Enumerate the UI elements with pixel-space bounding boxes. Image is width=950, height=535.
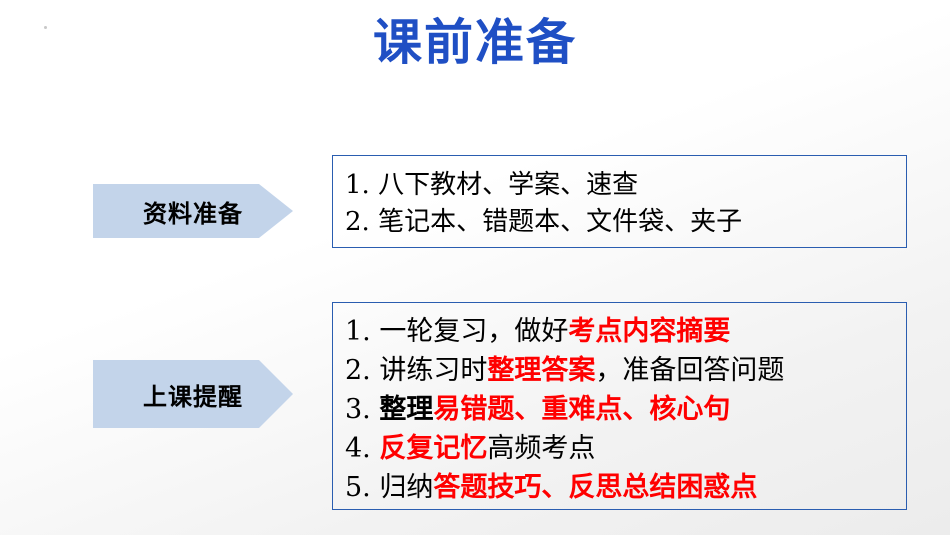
list-item-text: 归纳	[379, 472, 433, 503]
list-item: 2. 讲练习时整理答案，准备回答问题	[345, 351, 906, 390]
list-item-highlight: 易错题、重难点、核心句	[433, 394, 730, 425]
section-label-reminder: 上课提醒	[93, 360, 293, 428]
list-item-number: 4.	[345, 433, 371, 464]
content-box-reminder: 1. 一轮复习，做好考点内容摘要 2. 讲练习时整理答案，准备回答问题 3. 整…	[332, 302, 907, 510]
list-item-text: 讲练习时	[379, 355, 487, 386]
list-item: 3. 整理易错题、重难点、核心句	[345, 390, 906, 429]
section-label-materials: 资料准备	[93, 184, 293, 238]
list-item-highlight: 考点内容摘要	[568, 316, 730, 347]
list-item-number: 1.	[345, 316, 371, 347]
list-item: 1. 一轮复习，做好考点内容摘要	[345, 312, 906, 351]
list-item-text: 高频考点	[487, 433, 595, 464]
list-item-highlight: 反复记忆	[379, 433, 487, 464]
list-item-number: 3.	[345, 394, 371, 425]
list-item: 4. 反复记忆高频考点	[345, 429, 906, 468]
list-item-text: 整理	[379, 394, 433, 425]
list-item-text: 八下教材、学案、速查	[378, 170, 638, 200]
list-item: 2. 笔记本、错题本、文件袋、夹子	[345, 204, 906, 241]
section-label-reminder-text: 上课提醒	[143, 377, 243, 412]
list-item-number: 2.	[345, 355, 371, 386]
list-item-text: ，准备回答问题	[595, 355, 784, 386]
list-item-number: 5.	[345, 472, 371, 503]
list-item-number: 2.	[345, 207, 370, 237]
list-item-text: 一轮复习，做好	[379, 316, 568, 347]
list-item-highlight: 整理答案	[487, 355, 595, 386]
content-box-materials: 1. 八下教材、学案、速查 2. 笔记本、错题本、文件袋、夹子	[332, 155, 907, 248]
list-item: 1. 八下教材、学案、速查	[345, 167, 906, 204]
page-title: 课前准备	[0, 16, 950, 70]
section-label-materials-text: 资料准备	[143, 194, 243, 229]
list-item-number: 1.	[345, 170, 370, 200]
list-item-text: 笔记本、错题本、文件袋、夹子	[378, 207, 742, 237]
slide-canvas: 课前准备 资料准备 1. 八下教材、学案、速查 2. 笔记本、错题本、文件袋、夹…	[0, 0, 950, 535]
list-item-highlight: 答题技巧、反思总结困惑点	[433, 472, 757, 503]
list-item: 5. 归纳答题技巧、反思总结困惑点	[345, 468, 906, 507]
